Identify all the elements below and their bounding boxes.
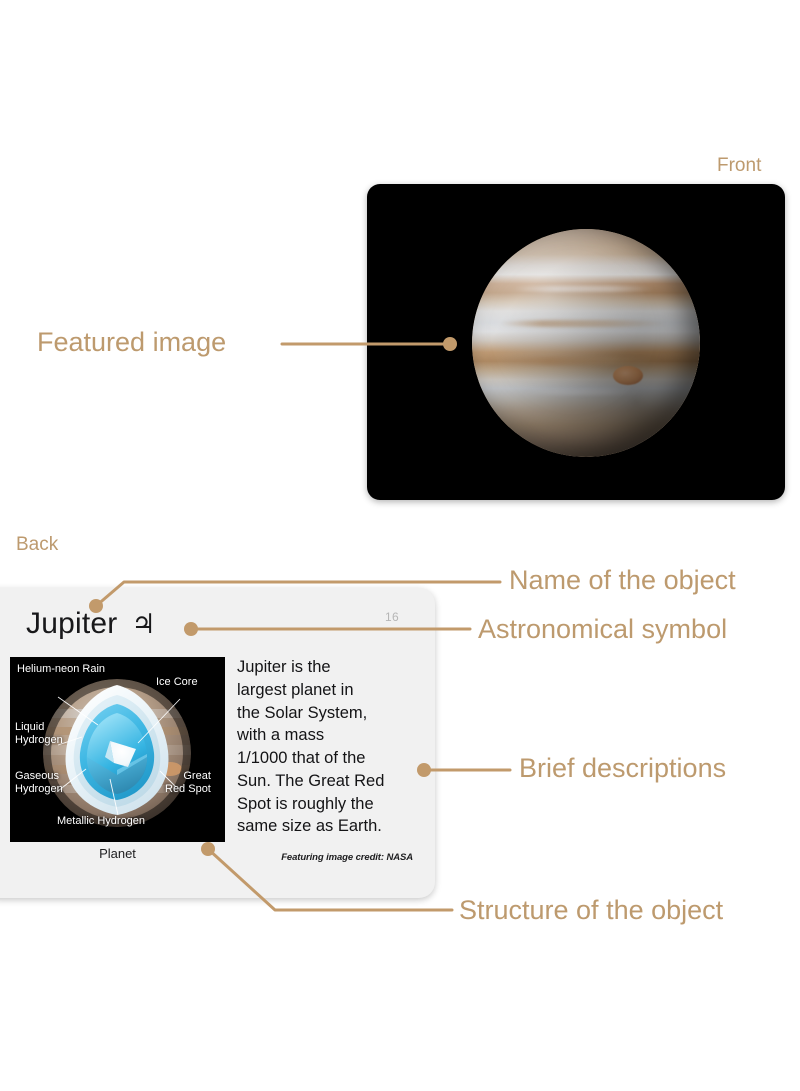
annotation-connectors — [0, 0, 800, 1091]
annotation-featured-image: Featured image — [37, 329, 226, 356]
diagram-label-metallic-hydrogen: Metallic Hydrogen — [57, 815, 145, 828]
front-side-label: Front — [717, 156, 761, 175]
diagram-label-liquid-hydrogen: LiquidHydrogen — [15, 721, 63, 747]
description-line: same size as Earth. — [237, 815, 407, 838]
card-title: Jupiter — [26, 609, 117, 639]
planet-limb-darkening — [472, 229, 700, 457]
flashcard-anatomy-figure: Front Back Jupiter ♃ 16 — [0, 0, 800, 1091]
diagram-label-ice-core: Ice Core — [156, 676, 198, 689]
front-card[interactable] — [367, 184, 785, 500]
description-line: the Solar System, — [237, 702, 407, 725]
description-line: Jupiter is the — [237, 656, 407, 679]
annotation-structure-of-object: Structure of the object — [459, 897, 723, 924]
jupiter-photo — [472, 229, 700, 457]
structure-diagram: Helium-neon Rain Ice Core LiquidHydrogen… — [10, 657, 225, 842]
diagram-label-great-red-spot: GreatRed Spot — [165, 770, 211, 796]
back-side-label: Back — [16, 535, 58, 554]
description-line: with a mass — [237, 724, 407, 747]
diagram-label-gaseous-hydrogen: GaseousHydrogen — [15, 770, 63, 796]
diagram-caption: Planet — [10, 846, 225, 861]
page-number: 16 — [385, 610, 399, 624]
diagram-label-helium-neon-rain: Helium-neon Rain — [17, 663, 105, 676]
description-line: Spot is roughly the — [237, 793, 407, 816]
description-line: largest planet in — [237, 679, 407, 702]
annotation-brief-descriptions: Brief descriptions — [519, 755, 726, 782]
annotation-name-of-object: Name of the object — [509, 567, 736, 594]
card-title-row: Jupiter ♃ — [26, 609, 156, 639]
image-credit: Featuring image credit: NASA — [237, 852, 413, 863]
annotation-astronomical-symbol: Astronomical symbol — [478, 616, 727, 643]
description-line: 1/1000 that of the — [237, 747, 407, 770]
description-line: Sun. The Great Red — [237, 770, 407, 793]
back-card[interactable]: Jupiter ♃ 16 — [0, 588, 435, 898]
card-description: Jupiter is the largest planet in the Sol… — [237, 656, 407, 838]
astronomical-symbol-glyph: ♃ — [131, 611, 155, 638]
